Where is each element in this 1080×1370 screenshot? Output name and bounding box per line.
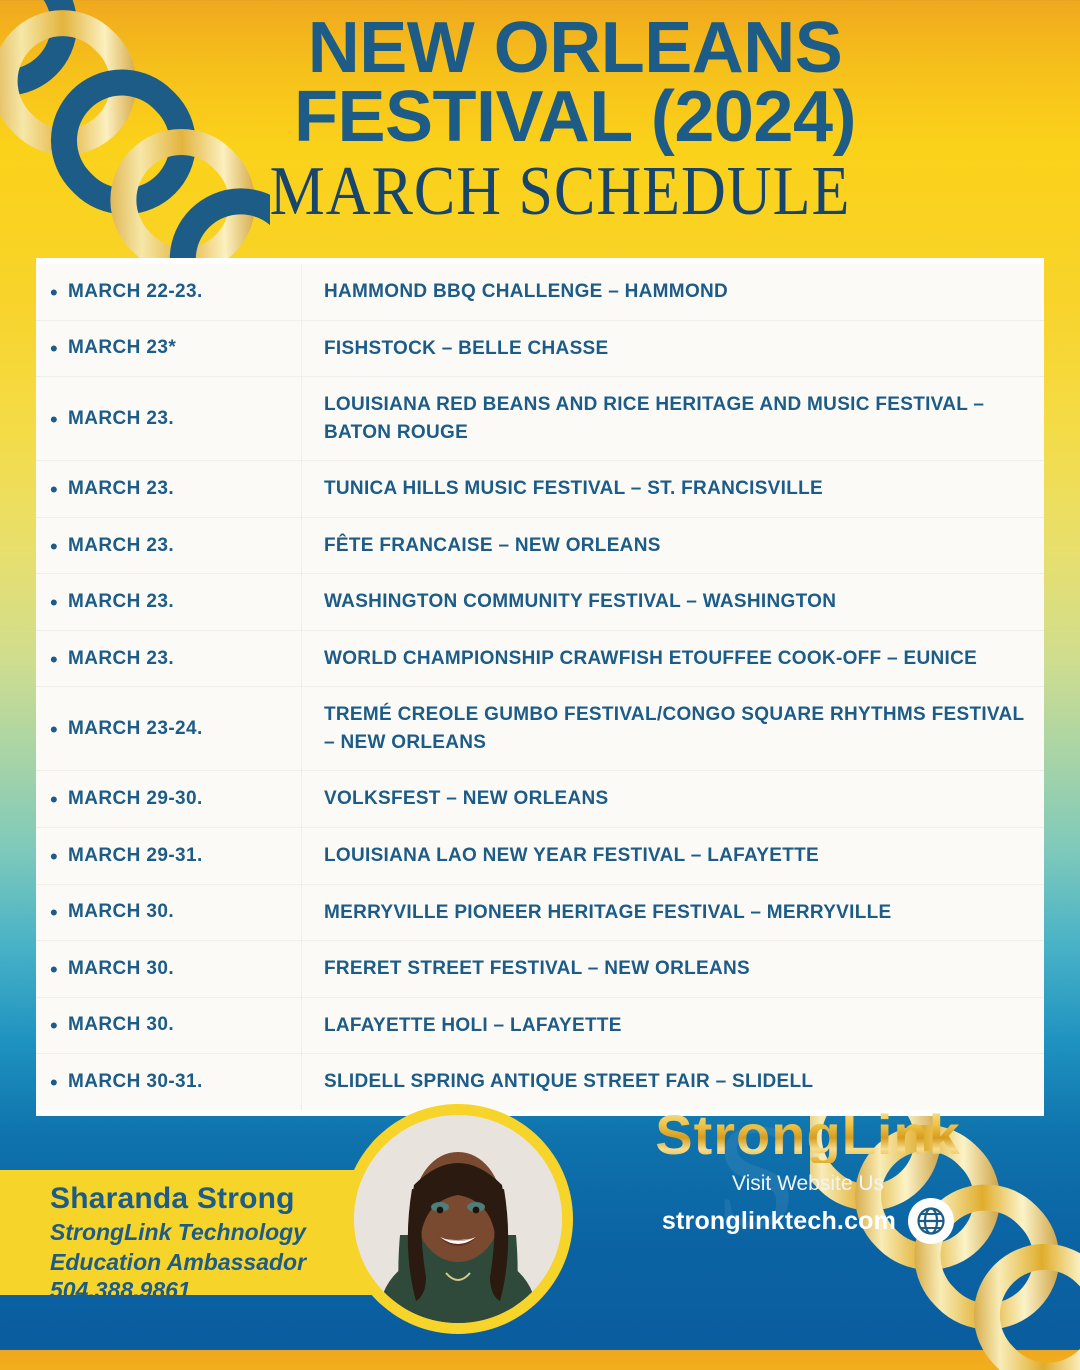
schedule-date-cell: •MARCH 23. [36, 377, 302, 460]
schedule-event-cell: WASHINGTON COMMUNITY FESTIVAL – WASHINGT… [302, 574, 1044, 630]
table-row: •MARCH 23.WORLD CHAMPIONSHIP CRAWFISH ET… [36, 631, 1044, 688]
bullet-icon: • [50, 787, 68, 811]
schedule-date-cell: •MARCH 23. [36, 631, 302, 687]
table-row: •MARCH 23.TUNICA HILLS MUSIC FESTIVAL – … [36, 461, 1044, 518]
brand-block: S StrongLink Visit Website Us stronglink… [608, 1107, 1008, 1244]
ambassador-role-line-2: Education Ambassador [50, 1249, 380, 1276]
bullet-icon: • [50, 900, 68, 924]
ambassador-info: Sharanda Strong StrongLink Technology Ed… [50, 1181, 380, 1304]
schedule-date-cell: •MARCH 30. [36, 998, 302, 1054]
bullet-icon: • [50, 717, 68, 741]
schedule-date: MARCH 22-23. [68, 281, 203, 303]
schedule-date: MARCH 29-31. [68, 845, 203, 867]
schedule-date: MARCH 23* [68, 337, 176, 359]
schedule-date-cell: •MARCH 30. [36, 885, 302, 941]
schedule-event: FRERET STREET FESTIVAL – NEW ORLEANS [324, 955, 750, 983]
bullet-icon: • [50, 477, 68, 501]
ambassador-name: Sharanda Strong [50, 1181, 380, 1216]
table-row: •MARCH 23.LOUISIANA RED BEANS AND RICE H… [36, 377, 1044, 461]
table-row: •MARCH 23.FÊTE FRANCAISE – NEW ORLEANS [36, 518, 1044, 575]
schedule-event-cell: LOUISIANA LAO NEW YEAR FESTIVAL – LAFAYE… [302, 828, 1044, 884]
schedule-date: MARCH 23. [68, 591, 174, 613]
schedule-event-cell: FÊTE FRANCAISE – NEW ORLEANS [302, 518, 1044, 574]
table-row: •MARCH 22-23.HAMMOND BBQ CHALLENGE – HAM… [36, 264, 1044, 321]
page-title: NEW ORLEANS FESTIVAL (2024) [0, 14, 1080, 152]
schedule-event-cell: LOUISIANA RED BEANS AND RICE HERITAGE AN… [302, 377, 1044, 460]
schedule-date-cell: •MARCH 23* [36, 321, 302, 377]
schedule-date: MARCH 23. [68, 535, 174, 557]
table-row: •MARCH 23-24.TREMÉ CREOLE GUMBO FESTIVAL… [36, 687, 1044, 771]
ambassador-phone: 504.388.9861 [50, 1277, 380, 1304]
table-row: •MARCH 30.FRERET STREET FESTIVAL – NEW O… [36, 941, 1044, 998]
schedule-event: HAMMOND BBQ CHALLENGE – HAMMOND [324, 278, 728, 306]
schedule-date-cell: •MARCH 23. [36, 461, 302, 517]
page-subtitle: MARCH SCHEDULE [0, 156, 1080, 229]
globe-icon[interactable] [908, 1198, 954, 1244]
schedule-date: MARCH 23-24. [68, 718, 203, 740]
schedule-date-cell: •MARCH 29-31. [36, 828, 302, 884]
website-row[interactable]: stronglinktech.com [608, 1198, 1008, 1244]
schedule-event: FÊTE FRANCAISE – NEW ORLEANS [324, 532, 661, 560]
schedule-event-cell: FISHSTOCK – BELLE CHASSE [302, 321, 1044, 377]
title-line-1: NEW ORLEANS [308, 8, 843, 88]
schedule-date-cell: •MARCH 23. [36, 574, 302, 630]
bullet-icon: • [50, 1013, 68, 1037]
schedule-event: TREMÉ CREOLE GUMBO FESTIVAL/CONGO SQUARE… [324, 701, 1028, 756]
bullet-icon: • [50, 534, 68, 558]
schedule-date: MARCH 30. [68, 901, 174, 923]
schedule-event-cell: MERRYVILLE PIONEER HERITAGE FESTIVAL – M… [302, 885, 1044, 941]
schedule-event: TUNICA HILLS MUSIC FESTIVAL – ST. FRANCI… [324, 475, 823, 503]
schedule-event-cell: VOLKSFEST – NEW ORLEANS [302, 771, 1044, 827]
schedule-event: LAFAYETTE HOLI – LAFAYETTE [324, 1012, 622, 1040]
schedule-date: MARCH 23. [68, 478, 174, 500]
bullet-icon: • [50, 280, 68, 304]
bullet-icon: • [50, 590, 68, 614]
schedule-event: LOUISIANA RED BEANS AND RICE HERITAGE AN… [324, 391, 1028, 446]
website-url[interactable]: stronglinktech.com [662, 1207, 896, 1236]
schedule-event-cell: TUNICA HILLS MUSIC FESTIVAL – ST. FRANCI… [302, 461, 1044, 517]
schedule-date: MARCH 30. [68, 1014, 174, 1036]
avatar [343, 1104, 573, 1334]
schedule-event: WORLD CHAMPIONSHIP CRAWFISH ETOUFFEE COO… [324, 645, 977, 673]
schedule-date-cell: •MARCH 22-23. [36, 264, 302, 320]
schedule-date: MARCH 30. [68, 958, 174, 980]
bullet-icon: • [50, 407, 68, 431]
visit-label: Visit Website Us [608, 1171, 1008, 1196]
ambassador-photo [354, 1115, 562, 1323]
schedule-date-cell: •MARCH 23. [36, 518, 302, 574]
schedule-event-cell: WORLD CHAMPIONSHIP CRAWFISH ETOUFFEE COO… [302, 631, 1044, 687]
schedule-event-cell: FRERET STREET FESTIVAL – NEW ORLEANS [302, 941, 1044, 997]
schedule-date-cell: •MARCH 29-30. [36, 771, 302, 827]
table-row: •MARCH 23*FISHSTOCK – BELLE CHASSE [36, 321, 1044, 378]
schedule-event-cell: TREMÉ CREOLE GUMBO FESTIVAL/CONGO SQUARE… [302, 687, 1044, 770]
table-row: •MARCH 29-31.LOUISIANA LAO NEW YEAR FEST… [36, 828, 1044, 885]
table-row: •MARCH 30.MERRYVILLE PIONEER HERITAGE FE… [36, 885, 1044, 942]
schedule-event-cell: HAMMOND BBQ CHALLENGE – HAMMOND [302, 264, 1044, 320]
schedule-event: WASHINGTON COMMUNITY FESTIVAL – WASHINGT… [324, 588, 836, 616]
schedule-event-cell: LAFAYETTE HOLI – LAFAYETTE [302, 998, 1044, 1054]
bullet-icon: • [50, 336, 68, 360]
bullet-icon: • [50, 844, 68, 868]
schedule-date-cell: •MARCH 23-24. [36, 687, 302, 770]
brand-name: StrongLink [608, 1107, 1008, 1163]
schedule-table: •MARCH 22-23.HAMMOND BBQ CHALLENGE – HAM… [36, 264, 1044, 1110]
ambassador-role-line-1: StrongLink Technology [50, 1219, 380, 1246]
bullet-icon: • [50, 647, 68, 671]
schedule-date: MARCH 23. [68, 408, 174, 430]
table-row: •MARCH 30.LAFAYETTE HOLI – LAFAYETTE [36, 998, 1044, 1055]
bullet-icon: • [50, 957, 68, 981]
schedule-date-cell: •MARCH 30. [36, 941, 302, 997]
schedule-event: LOUISIANA LAO NEW YEAR FESTIVAL – LAFAYE… [324, 842, 819, 870]
portrait-illustration [354, 1115, 562, 1323]
title-line-2: FESTIVAL (2024) [70, 83, 1080, 152]
poster-footer: Sharanda Strong StrongLink Technology Ed… [0, 1085, 1080, 1350]
schedule-panel: •MARCH 22-23.HAMMOND BBQ CHALLENGE – HAM… [36, 258, 1044, 1116]
poster-header: NEW ORLEANS FESTIVAL (2024) MARCH SCHEDU… [0, 0, 1080, 221]
schedule-date: MARCH 29-30. [68, 788, 203, 810]
table-row: •MARCH 29-30.VOLKSFEST – NEW ORLEANS [36, 771, 1044, 828]
schedule-date: MARCH 23. [68, 648, 174, 670]
schedule-event: VOLKSFEST – NEW ORLEANS [324, 785, 609, 813]
table-row: •MARCH 23.WASHINGTON COMMUNITY FESTIVAL … [36, 574, 1044, 631]
schedule-event: FISHSTOCK – BELLE CHASSE [324, 335, 609, 363]
schedule-event: MERRYVILLE PIONEER HERITAGE FESTIVAL – M… [324, 899, 892, 927]
